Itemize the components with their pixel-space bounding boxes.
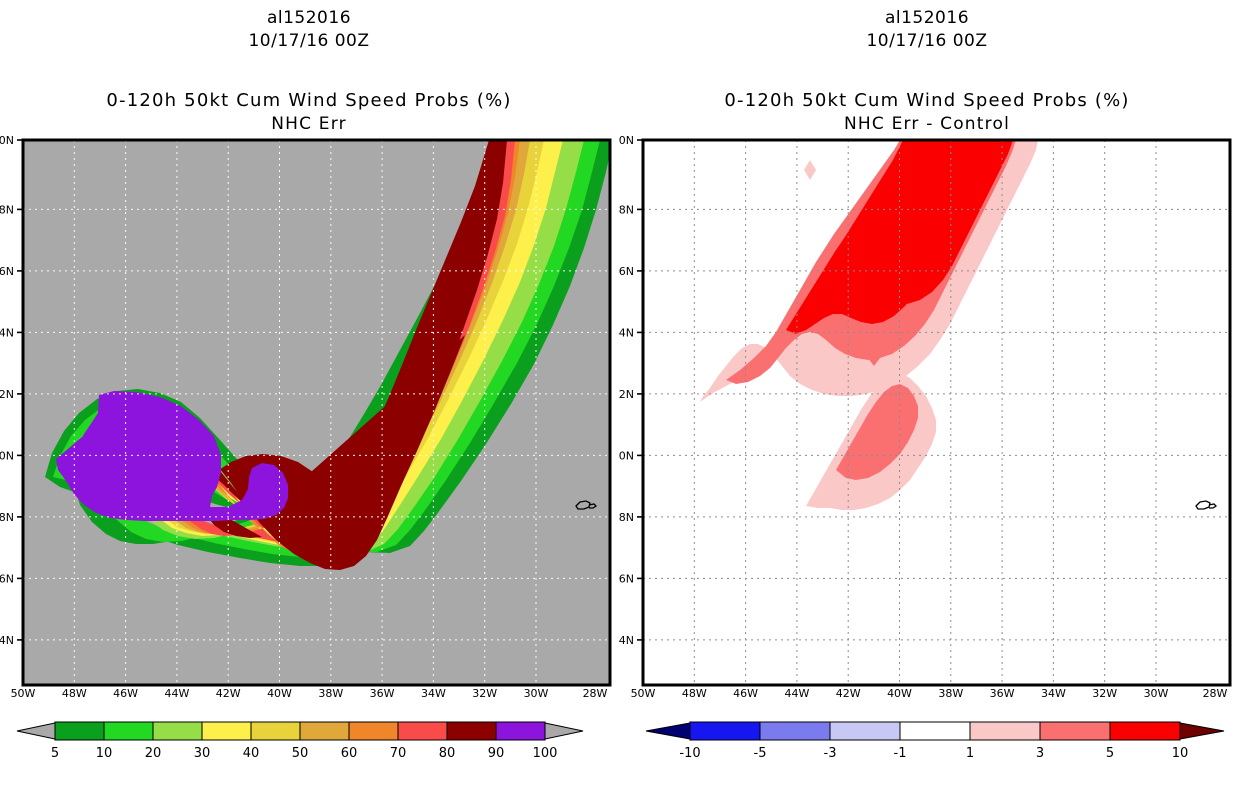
right-xlabel-4: 42W [836,687,861,700]
right-ylabel-0: 50N [618,134,634,147]
left-colorbar-swatch-5 [300,722,349,740]
left-cbar-tick-1: 10 [96,746,113,761]
left-colorbar-swatch-2 [153,722,202,740]
left-ylabel-5: 40N [0,449,14,462]
right-cbar-tick-7: 10 [1172,746,1189,761]
right-ylabel-5: 40N [618,449,634,462]
right-cbar-tick-4: 1 [966,746,974,761]
left-ylabel-8: 34N [0,634,14,647]
left-ylabel-2: 46N [0,265,14,278]
right-colorbar-swatch-5 [1040,722,1110,740]
right-colorbar-swatch-2 [830,722,900,740]
right-cbar-tick-5: 3 [1036,746,1044,761]
left-xlabel-9: 32W [472,687,497,700]
left-cbar-tick-0: 5 [51,746,59,761]
left-xlabel-6: 38W [318,687,343,700]
right-xlabel-8: 34W [1041,687,1066,700]
left-colorbar-swatch-9 [496,722,545,740]
left-cbar-tick-8: 80 [439,746,456,761]
right-cbar-tick-6: 5 [1106,746,1114,761]
left-colorbar-over-arrow [545,723,583,739]
left-y-axis: 50N 48N 46N 44N 42N 40N 38N 36N 34N [0,134,23,647]
left-cbar-tick-4: 40 [243,746,260,761]
left-cbar-tick-7: 70 [390,746,407,761]
right-xlabel-7: 36W [990,687,1015,700]
right-xlabel-5: 40W [887,687,912,700]
left-ylabel-6: 38N [0,511,14,524]
right-xlabel-10: 30W [1144,687,1169,700]
left-plot-svg: 50N 48N 46N 44N 42N 40N 38N 36N 34N 50W … [0,0,618,800]
left-colorbar-swatch-0 [55,722,104,740]
left-cbar-tick-9: 90 [488,746,505,761]
panel-nhc-err-minus-control: al152016 10/17/16 00Z 0-120h 50kt Cum Wi… [618,0,1236,800]
right-colorbar-swatch-3 [900,722,970,740]
left-cbar-tick-3: 30 [194,746,211,761]
left-colorbar-under-arrow [17,723,55,739]
left-ylabel-0: 50N [0,134,14,147]
left-xlabel-7: 36W [370,687,395,700]
right-colorbar-swatch-1 [760,722,830,740]
right-xlabel-2: 46W [733,687,758,700]
left-xlabel-2: 46W [113,687,138,700]
right-x-axis: 50W 48W 46W 44W 42W 40W 38W 36W 34W 32W … [631,687,1228,700]
right-colorbar-over-arrow [1180,723,1224,739]
left-xlabel-8: 34W [421,687,446,700]
left-xlabel-3: 44W [164,687,189,700]
right-xlabel-6: 38W [938,687,963,700]
right-xlabel-3: 44W [784,687,809,700]
left-ylabel-4: 42N [0,388,14,401]
right-cbar-tick-3: -1 [894,746,907,761]
right-ylabel-7: 36N [618,572,634,585]
left-colorbar-swatch-7 [398,722,447,740]
figure-root: al152016 10/17/16 00Z 0-120h 50kt Cum Wi… [0,0,1236,800]
right-colorbar: -10 -5 -3 -1 1 3 5 10 [646,722,1224,761]
left-xlabel-5: 40W [267,687,292,700]
left-colorbar-swatch-6 [349,722,398,740]
right-ylabel-1: 48N [618,203,634,216]
left-colorbar-swatch-1 [104,722,153,740]
left-colorbar: 5 10 20 30 40 50 60 70 80 90 100 [17,722,583,761]
left-colorbar-swatch-3 [202,722,251,740]
right-ylabel-3: 44N [618,326,634,339]
left-ylabel-3: 44N [0,326,14,339]
right-colorbar-swatch-6 [1110,722,1180,740]
right-ylabel-4: 42N [618,388,634,401]
right-xlabel-1: 48W [682,687,707,700]
left-xlabel-4: 42W [216,687,241,700]
right-xlabel-9: 32W [1092,687,1117,700]
right-plot-svg: 50N 48N 46N 44N 42N 40N 38N 36N 34N 50W … [618,0,1236,800]
left-cbar-tick-2: 20 [145,746,162,761]
right-ylabel-2: 46N [618,265,634,278]
left-xlabel-1: 48W [62,687,87,700]
left-xlabel-11: 28W [583,687,608,700]
left-ylabel-1: 48N [0,203,14,216]
right-colorbar-swatch-4 [970,722,1040,740]
right-colorbar-under-arrow [646,723,690,739]
left-xlabel-0: 50W [11,687,36,700]
panel-nhc-err: al152016 10/17/16 00Z 0-120h 50kt Cum Wi… [0,0,618,800]
right-xlabel-0: 50W [631,687,656,700]
right-cbar-tick-2: -3 [824,746,837,761]
right-cbar-tick-0: -10 [679,746,700,761]
left-xlabel-10: 30W [524,687,549,700]
right-y-axis: 50N 48N 46N 44N 42N 40N 38N 36N 34N [618,134,643,647]
left-cbar-tick-6: 60 [341,746,358,761]
right-ylabel-8: 34N [618,634,634,647]
right-cbar-tick-1: -5 [754,746,767,761]
right-xlabel-11: 28W [1203,687,1228,700]
left-cbar-tick-10: 100 [533,746,558,761]
left-colorbar-swatch-8 [447,722,496,740]
left-cbar-tick-5: 50 [292,746,309,761]
left-colorbar-swatch-4 [251,722,300,740]
left-ylabel-7: 36N [0,572,14,585]
left-x-axis: 50W 48W 46W 44W 42W 40W 38W 36W 34W 32W … [11,687,608,700]
right-ylabel-6: 38N [618,511,634,524]
right-colorbar-swatch-0 [690,722,760,740]
